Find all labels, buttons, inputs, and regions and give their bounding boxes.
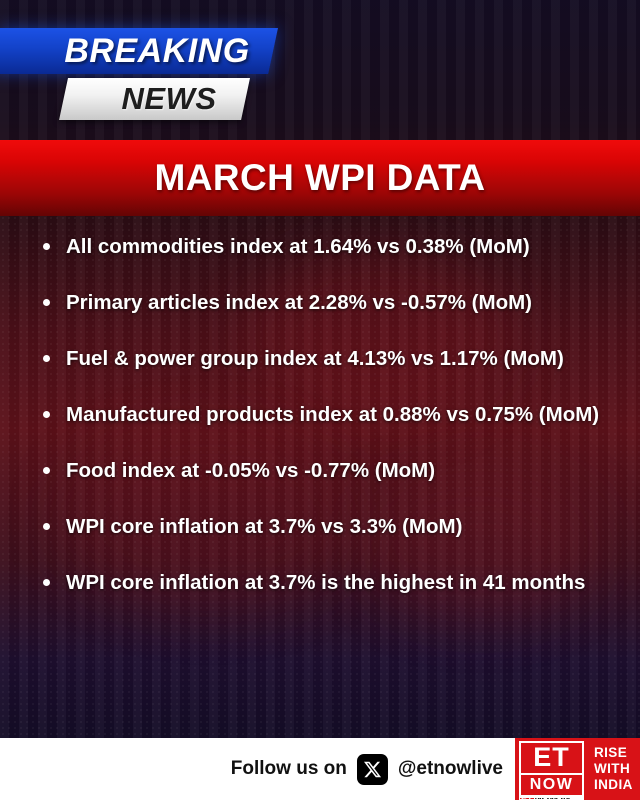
tagline-line-3: INDIA bbox=[594, 777, 640, 793]
bullet-dot-icon bbox=[43, 579, 50, 586]
social-handle[interactable]: @etnowlive bbox=[398, 758, 503, 780]
list-item-text: WPI core inflation at 3.7% is the highes… bbox=[66, 568, 604, 597]
follow-us-group: Follow us on @etnowlive bbox=[0, 754, 515, 785]
breaking-news-card: BREAKING NEWS MARCH WPI DATA All commodi… bbox=[0, 0, 640, 800]
list-item-text: Fuel & power group index at 4.13% vs 1.1… bbox=[66, 344, 604, 373]
logo-et-text: ET bbox=[519, 741, 584, 775]
footer-bar: Follow us on @etnowlive ET NOW ET NOW.IN… bbox=[0, 738, 640, 800]
bullet-dot-icon bbox=[43, 523, 50, 530]
list-item: Manufactured products index at 0.88% vs … bbox=[38, 400, 604, 429]
bullet-list: All commodities index at 1.64% vs 0.38% … bbox=[38, 232, 604, 624]
list-item-text: Manufactured products index at 0.88% vs … bbox=[66, 400, 604, 429]
list-item: WPI core inflation at 3.7% vs 3.3% (MoM) bbox=[38, 512, 604, 541]
list-item: WPI core inflation at 3.7% is the highes… bbox=[38, 568, 604, 597]
bullet-dot-icon bbox=[43, 467, 50, 474]
bullet-dot-icon bbox=[43, 243, 50, 250]
page-title: MARCH WPI DATA bbox=[154, 157, 485, 199]
etnow-logo-mark: ET NOW ET NOW.IN bbox=[515, 738, 587, 800]
list-item-text: Primary articles index at 2.28% vs -0.57… bbox=[66, 288, 604, 317]
list-item: Primary articles index at 2.28% vs -0.57… bbox=[38, 288, 604, 317]
list-item-text: WPI core inflation at 3.7% vs 3.3% (MoM) bbox=[66, 512, 604, 541]
etnow-tagline: RISE WITH INDIA bbox=[587, 738, 640, 800]
bullet-dot-icon bbox=[43, 299, 50, 306]
list-item-text: Food index at -0.05% vs -0.77% (MoM) bbox=[66, 456, 604, 485]
breaking-label: BREAKING bbox=[18, 28, 296, 74]
follow-label: Follow us on bbox=[231, 758, 347, 780]
x-twitter-icon[interactable] bbox=[357, 754, 388, 785]
headline-band: MARCH WPI DATA bbox=[0, 140, 640, 216]
news-label: NEWS bbox=[78, 78, 260, 120]
list-item-text: All commodities index at 1.64% vs 0.38% … bbox=[66, 232, 604, 261]
logo-now-text: NOW bbox=[519, 775, 584, 797]
list-item: All commodities index at 1.64% vs 0.38% … bbox=[38, 232, 604, 261]
list-item: Food index at -0.05% vs -0.77% (MoM) bbox=[38, 456, 604, 485]
tagline-line-1: RISE bbox=[594, 745, 640, 761]
tagline-line-2: WITH bbox=[594, 761, 640, 777]
etnow-logo[interactable]: ET NOW ET NOW.IN RISE WITH INDIA bbox=[515, 738, 640, 800]
bullet-dot-icon bbox=[43, 411, 50, 418]
list-item: Fuel & power group index at 4.13% vs 1.1… bbox=[38, 344, 604, 373]
bullet-dot-icon bbox=[43, 355, 50, 362]
